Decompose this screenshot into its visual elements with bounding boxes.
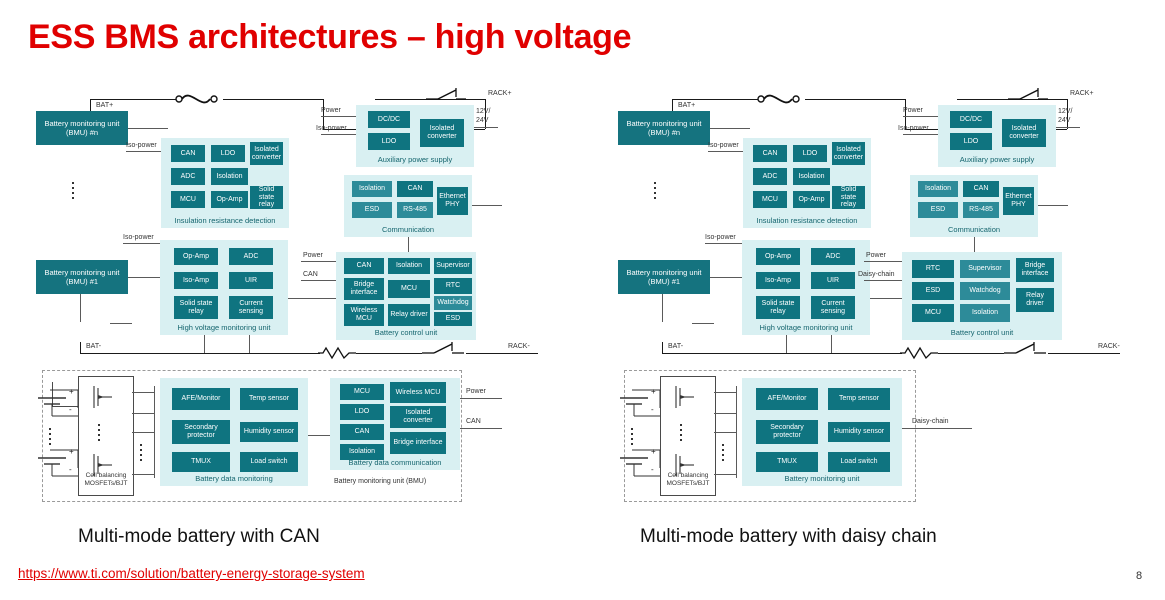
chip-dcdc: DC/DC	[368, 111, 410, 128]
chip-adc-hv: ADC	[229, 248, 273, 265]
chip-isolated-converter-aux: Isolated converter	[420, 119, 464, 147]
wire-top-1	[223, 99, 323, 100]
cb-wire-dots	[140, 444, 142, 464]
label-volts-2: 24V	[476, 117, 488, 124]
wire-hv-down-1	[204, 335, 205, 353]
label-bat-plus-r: BAT+	[678, 102, 695, 109]
wire-power-aux	[321, 116, 356, 117]
chip-solid-state-relay-hv-r: Solid state relay	[756, 296, 800, 319]
panel-title-aux-r: Auxiliary power supply	[938, 155, 1056, 164]
chip-uir-r: UIR	[811, 272, 855, 289]
svg-text:+: +	[69, 387, 74, 396]
diagram-left: BAT+ RACK+ Battery monitoring unit (BMU)…	[18, 80, 578, 520]
chip-mcu: MCU	[171, 191, 205, 208]
chip-isolation-bcu: Isolation	[388, 258, 430, 274]
wire-bat-minus-2-r	[938, 353, 1004, 354]
wire-hv-down-1-r	[786, 335, 787, 353]
wire-daisy-out-r	[902, 428, 972, 429]
chip-bridge-interface-bcu: Bridge interface	[344, 278, 384, 300]
chip-isolated-converter: Isolated converter	[250, 142, 283, 165]
chip-op-amp-hv-r: Op-Amp	[756, 248, 800, 265]
label-daisy-bcu-r: Daisy-chain	[858, 271, 895, 278]
wire-cb-2-r	[714, 413, 736, 414]
wire-hv-to-bcu-r	[870, 298, 902, 299]
wire-bmu-1-stub-r	[692, 323, 714, 324]
chip-ethernet-phy-r: Ethernet PHY	[1003, 187, 1034, 215]
wire-bmu-1-out	[128, 277, 160, 278]
panel-communication-r: Isolation CAN ESD RS-485 Ethernet PHY Co…	[910, 175, 1038, 237]
wire-bat-minus-1	[80, 353, 320, 354]
label-iso-power-aux-r: Iso-power	[898, 125, 929, 132]
panel-insulation-resistance-r: CAN LDO Isolated converter ADC Isolation…	[743, 138, 871, 228]
label-power-aux-r: Power	[903, 107, 923, 114]
cell-stack-dots-r	[631, 428, 633, 448]
wire-cb-1	[132, 392, 154, 393]
chip-ldo-aux-r: LDO	[950, 133, 992, 150]
source-link[interactable]: https://www.ti.com/solution/battery-ener…	[18, 566, 365, 581]
chip-adc: ADC	[171, 168, 205, 185]
wire-power-bcu-r	[864, 261, 902, 262]
label-volts-1-r: 12V/	[1058, 108, 1072, 115]
wire-top-1-r	[805, 99, 905, 100]
chip-temp-sensor-r: Temp sensor	[828, 388, 890, 410]
chip-tmux: TMUX	[172, 452, 230, 472]
cell-stack-dots	[49, 428, 51, 448]
chip-bridge-interface-bcu-r: Bridge interface	[1016, 258, 1054, 282]
relay-switch-icon-bottom	[422, 342, 468, 358]
panel-battery-control-unit: CAN Isolation Supervisor Bridge interfac…	[336, 252, 476, 340]
chip-supervisor-bcu: Supervisor	[434, 258, 472, 274]
bmu-1-box-r: Battery monitoring unit (BMU) #1	[618, 260, 710, 294]
chip-watchdog-bcu-r: Watchdog	[960, 282, 1010, 300]
bmu-n-label-r: Battery monitoring unit (BMU) #n	[620, 119, 708, 137]
chip-can-bcu: CAN	[344, 258, 384, 274]
wire-cb-3	[132, 432, 154, 433]
chip-op-amp: Op-Amp	[211, 191, 248, 208]
label-can-bmu: CAN	[466, 418, 481, 425]
bmu-outer-label: Battery monitoring unit (BMU)	[334, 478, 426, 485]
wire-bmu-1-down	[80, 294, 81, 322]
panel-title-communication-r: Communication	[910, 225, 1038, 234]
panel-insulation-resistance: CAN LDO Isolated converter ADC Isolation…	[161, 138, 289, 228]
wire-cb-rail-r	[736, 386, 737, 478]
wire-comm-out	[472, 205, 502, 206]
wire-bmu-power-out	[460, 398, 502, 399]
chip-supervisor-bcu-r: Supervisor	[960, 260, 1010, 278]
bmu-n-label: Battery monitoring unit (BMU) #n	[38, 119, 126, 137]
caption-left: Multi-mode battery with CAN	[78, 526, 320, 548]
chip-secondary-protector-r: Secondary protector	[756, 420, 818, 444]
label-volts-2-r: 24V	[1058, 117, 1070, 124]
wire-bat-minus-drop	[80, 342, 81, 353]
panel-aux-power: DC/DC LDO Isolated converter Auxiliary p…	[356, 105, 474, 167]
label-bat-minus-r: BAT-	[668, 343, 683, 350]
chip-load-switch-r: Load switch	[828, 452, 890, 472]
wire-bmu-n-out	[128, 128, 168, 129]
label-iso-power-hv: Iso-power	[123, 234, 154, 241]
chip-humidity-sensor-r: Humidity sensor	[828, 422, 890, 442]
fuse-icon	[174, 89, 226, 111]
wire-bdm-out	[308, 435, 330, 436]
chip-solid-state-relay-r: Solid state relay	[832, 186, 865, 209]
chip-ldo-aux: LDO	[368, 133, 410, 150]
panel-aux-power-r: DC/DC LDO Isolated converter Auxiliary p…	[938, 105, 1056, 167]
diagram-right: BAT+ RACK+ Battery monitoring unit (BMU)…	[600, 80, 1160, 520]
wire-comm-down	[408, 237, 409, 253]
bmu-n-box-r: Battery monitoring unit (BMU) #n	[618, 111, 710, 145]
wire-iso-power-aux	[321, 134, 356, 135]
chip-can-comm-r: CAN	[963, 181, 999, 197]
chip-bridge-interface-bdc: Bridge interface	[390, 432, 446, 454]
label-power-bcu: Power	[303, 252, 323, 259]
chip-can-r: CAN	[753, 145, 787, 162]
panel-communication: Isolation CAN ESD RS-485 Ethernet PHY Co…	[344, 175, 472, 237]
label-power-bmu: Power	[466, 388, 486, 395]
label-iso-power-ins: Iso-power	[126, 142, 157, 149]
chip-load-switch: Load switch	[240, 452, 298, 472]
mosfet-stack-dots-r	[680, 424, 682, 444]
chip-afe-monitor-r: AFE/Monitor	[756, 388, 818, 410]
chip-rs485-comm-r: RS-485	[963, 202, 999, 218]
panel-title-hv: High voltage monitoring unit	[160, 323, 288, 332]
chip-uir: UIR	[229, 272, 273, 289]
panel-battery-data-monitoring: AFE/Monitor Temp sensor Secondary protec…	[160, 378, 308, 486]
wire-power-aux-r	[903, 116, 938, 117]
chip-adc-hv-r: ADC	[811, 248, 855, 265]
page-number: 8	[1136, 570, 1142, 582]
panel-title-insulation: Insulation resistance detection	[161, 216, 289, 225]
wire-bmu-can-out	[460, 428, 502, 429]
chip-isolation-bcu-r: Isolation	[960, 304, 1010, 322]
caption-right: Multi-mode battery with daisy chain	[640, 526, 937, 548]
relay-switch-icon-1	[426, 88, 470, 104]
wire-iso-power-ins-r	[708, 151, 743, 152]
wire-bat-minus-drop-r	[662, 342, 663, 353]
label-can-bcu: CAN	[303, 271, 318, 278]
chip-relay-driver-bcu: Relay driver	[388, 304, 430, 326]
chip-iso-amp-r: Iso-Amp	[756, 272, 800, 289]
chip-humidity-sensor: Humidity sensor	[240, 422, 298, 442]
svg-text:-: -	[651, 405, 654, 414]
wire-cb-4	[132, 474, 154, 475]
chip-isolated-converter-aux-r: Isolated converter	[1002, 119, 1046, 147]
wire-comm-out-r	[1038, 205, 1068, 206]
label-iso-power-aux: Iso-power	[316, 125, 347, 132]
relay-switch-icon-bottom-r	[1004, 342, 1050, 358]
panel-hv-monitoring-r: Op-Amp ADC Iso-Amp UIR Solid state relay…	[742, 240, 870, 335]
wire-cb-3-r	[714, 432, 736, 433]
chip-solid-state-relay: Solid state relay	[250, 186, 283, 209]
label-bat-plus: BAT+	[96, 102, 113, 109]
chip-dcdc-r: DC/DC	[950, 111, 992, 128]
panel-battery-monitoring-unit-r: AFE/Monitor Temp sensor Secondary protec…	[742, 378, 902, 486]
chip-can-comm: CAN	[397, 181, 433, 197]
chip-solid-state-relay-hv: Solid state relay	[174, 296, 218, 319]
label-bat-minus: BAT-	[86, 343, 101, 350]
chip-ldo-bdc: LDO	[340, 404, 384, 420]
chip-ldo: LDO	[211, 145, 245, 162]
wire-power-bcu	[301, 261, 336, 262]
chip-rs485-comm: RS-485	[397, 202, 433, 218]
label-power-bcu-r: Power	[866, 252, 886, 259]
chip-current-sensing: Current sensing	[229, 296, 273, 319]
chip-isolation-comm: Isolation	[352, 181, 392, 197]
svg-text:+: +	[69, 447, 74, 456]
chip-relay-driver-bcu-r: Relay driver	[1016, 288, 1054, 312]
bmu-stack-dots	[72, 182, 74, 202]
panel-title-bcu: Battery control unit	[336, 328, 476, 337]
chip-adc-r: ADC	[753, 168, 787, 185]
cell-balancing-label: Cell balancing MOSFETs/BJT	[80, 472, 132, 488]
wire-bat-minus-1-r	[662, 353, 902, 354]
wire-iso-power-ins	[126, 151, 161, 152]
bmu-n-box: Battery monitoring unit (BMU) #n	[36, 111, 128, 145]
chip-mcu-bdc: MCU	[340, 384, 384, 400]
panel-title-bdm: Battery data monitoring	[160, 474, 308, 483]
wire-aux-out	[474, 127, 498, 128]
panel-title-bcu-r: Battery control unit	[902, 328, 1062, 337]
chip-isolation-r: Isolation	[793, 168, 830, 185]
chip-mcu-r: MCU	[753, 191, 787, 208]
chip-can-bdc: CAN	[340, 424, 384, 440]
page-title: ESS BMS architectures – high voltage	[28, 18, 631, 57]
mosfet-stack-dots	[98, 424, 100, 444]
wire-bat-minus-3-r	[1048, 353, 1120, 354]
chip-iso-amp: Iso-Amp	[174, 272, 218, 289]
chip-ldo-r: LDO	[793, 145, 827, 162]
chip-esd-comm-r: ESD	[918, 202, 958, 218]
wire-bat-plus	[90, 99, 176, 100]
wire-aux-out-r	[1056, 127, 1080, 128]
chip-isolated-converter-r: Isolated converter	[832, 142, 865, 165]
chip-mcu-bcu: MCU	[388, 280, 430, 298]
panel-title-aux: Auxiliary power supply	[356, 155, 474, 164]
bmu-1-label-r: Battery monitoring unit (BMU) #1	[620, 268, 708, 286]
wire-comm-down-r	[974, 237, 975, 253]
chip-isolation-comm-r: Isolation	[918, 181, 958, 197]
panel-title-communication: Communication	[344, 225, 472, 234]
chip-rtc-bcu-r: RTC	[912, 260, 954, 278]
chip-wireless-mcu-bcu: Wireless MCU	[344, 304, 384, 326]
label-rack-plus: RACK+	[488, 90, 512, 97]
chip-tmux-r: TMUX	[756, 452, 818, 472]
wire-hv-to-bcu	[288, 298, 336, 299]
chip-watchdog-bcu: Watchdog	[434, 296, 472, 310]
panel-battery-data-communication: MCU Wireless MCU LDO Isolated converter …	[330, 378, 460, 470]
bmu-stack-dots-r	[654, 182, 656, 202]
chip-esd-comm: ESD	[352, 202, 392, 218]
panel-battery-control-unit-r: RTC Supervisor Bridge interface ESD Watc…	[902, 252, 1062, 340]
wire-hv-down-2-r	[831, 335, 832, 353]
wire-iso-power-aux-r	[903, 134, 938, 135]
label-rack-plus-r: RACK+	[1070, 90, 1094, 97]
label-daisy-chain-bottom-r: Daisy-chain	[912, 418, 949, 425]
wire-cb-rail	[154, 386, 155, 478]
wire-hv-down-2	[249, 335, 250, 353]
chip-wireless-mcu-bdc: Wireless MCU	[390, 382, 446, 403]
chip-op-amp-hv: Op-Amp	[174, 248, 218, 265]
chip-op-amp-r: Op-Amp	[793, 191, 830, 208]
wire-bmu-1-down-r	[662, 294, 663, 322]
label-volts-1: 12V/	[476, 108, 490, 115]
wire-iso-power-hv-r	[705, 243, 742, 244]
chip-isolated-converter-bdc: Isolated converter	[390, 406, 446, 428]
chip-esd-bcu: ESD	[434, 312, 472, 326]
panel-title-bmu-r: Battery monitoring unit	[742, 474, 902, 483]
bmu-1-box: Battery monitoring unit (BMU) #1	[36, 260, 128, 294]
slide-root: ESS BMS architectures – high voltage	[0, 0, 1165, 600]
wire-bmu-1-out-r	[710, 277, 742, 278]
chip-can: CAN	[171, 145, 205, 162]
wire-bmu-n-out-r	[710, 128, 750, 129]
wire-iso-power-hv	[123, 243, 160, 244]
wire-can-bcu	[301, 280, 336, 281]
cb-wire-dots-r	[722, 444, 724, 464]
chip-current-sensing-r: Current sensing	[811, 296, 855, 319]
svg-text:-: -	[69, 465, 72, 474]
cell-balancing-label-r: Cell balancing MOSFETs/BJT	[662, 472, 714, 488]
wire-bat-plus-r	[672, 99, 758, 100]
chip-temp-sensor: Temp sensor	[240, 388, 298, 410]
shunt-resistor-icon-r	[900, 346, 944, 362]
svg-text:-: -	[69, 405, 72, 414]
panel-title-hv-r: High voltage monitoring unit	[742, 323, 870, 332]
chip-ethernet-phy: Ethernet PHY	[437, 187, 468, 215]
panel-title-insulation-r: Insulation resistance detection	[743, 216, 871, 225]
chip-isolation: Isolation	[211, 168, 248, 185]
bmu-1-label: Battery monitoring unit (BMU) #1	[38, 268, 126, 286]
label-iso-power-ins-r: Iso-power	[708, 142, 739, 149]
wire-bmu-1-stub	[110, 323, 132, 324]
wire-cb-1-r	[714, 392, 736, 393]
wire-bat-minus-2	[356, 353, 422, 354]
chip-mcu-bcu-r: MCU	[912, 304, 954, 322]
wire-cb-4-r	[714, 474, 736, 475]
label-power-aux: Power	[321, 107, 341, 114]
relay-switch-icon-1-r	[1008, 88, 1052, 104]
wire-daisy-bcu-r	[864, 280, 902, 281]
svg-text:-: -	[651, 465, 654, 474]
wire-bat-minus-3	[466, 353, 538, 354]
panel-title-bdc: Battery data communication	[330, 458, 460, 467]
chip-afe-monitor: AFE/Monitor	[172, 388, 230, 410]
chip-esd-bcu-r: ESD	[912, 282, 954, 300]
wire-cb-2	[132, 413, 154, 414]
chip-rtc-bcu: RTC	[434, 278, 472, 294]
fuse-icon-r	[756, 89, 808, 111]
shunt-resistor-icon	[318, 346, 362, 362]
chip-secondary-protector: Secondary protector	[172, 420, 230, 444]
svg-text:+: +	[651, 387, 656, 396]
label-rack-minus: RACK-	[508, 343, 530, 350]
svg-text:+: +	[651, 447, 656, 456]
panel-hv-monitoring: Op-Amp ADC Iso-Amp UIR Solid state relay…	[160, 240, 288, 335]
label-iso-power-hv-r: Iso-power	[705, 234, 736, 241]
label-rack-minus-r: RACK-	[1098, 343, 1120, 350]
